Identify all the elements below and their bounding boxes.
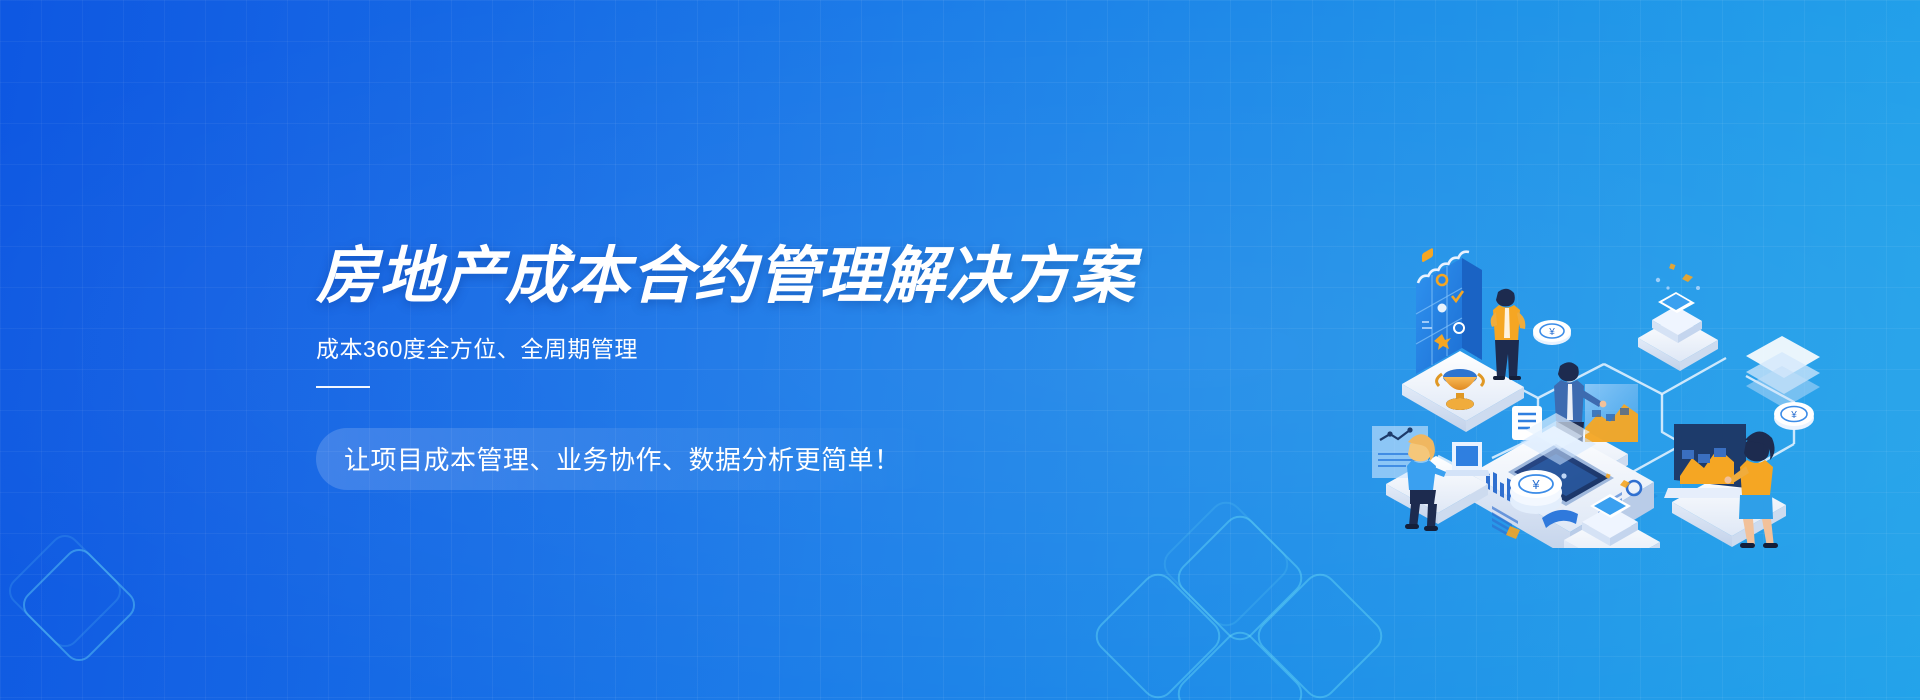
floating-card-icon [1506, 526, 1520, 539]
central-server-hub-icon [1460, 413, 1658, 548]
platform-plate [1402, 351, 1524, 432]
stacked-device-icon [1638, 263, 1718, 371]
calendar-plate-group [1402, 247, 1525, 432]
hero-copy: 房地产成本合约管理解决方案 成本360度全方位、全周期管理 让项目成本管理、业务… [316, 246, 1076, 490]
report-panel-icon [1585, 384, 1638, 442]
coin-yuan-icon: ¥ [1533, 320, 1571, 345]
connection-wires [1438, 358, 1794, 484]
tagline-pill: 让项目成本管理、业务协作、数据分析更简单！ [316, 428, 931, 490]
person-presenting-chart-icon [1554, 362, 1606, 468]
server-bar-chart [1486, 472, 1511, 502]
person-seated-icon [1405, 434, 1446, 531]
presenter-plate-group [1512, 362, 1638, 496]
trophy-icon [1437, 369, 1484, 410]
server-text-lines [1492, 506, 1518, 536]
calendar-board-icon [1416, 247, 1482, 374]
page-title: 房地产成本合约管理解决方案 [316, 246, 1076, 308]
coin-yuan-right-icon: ¥ [1774, 402, 1814, 430]
page-subtitle: 成本360度全方位、全周期管理 [316, 336, 1076, 364]
svg-text:¥: ¥ [1790, 410, 1797, 421]
isometric-cost-management-scene: ¥ [1342, 188, 1902, 548]
document-lines-icon [1512, 406, 1542, 440]
coin-stack-icon: ¥ [1510, 470, 1562, 514]
seated-person-group [1372, 426, 1490, 531]
stacked-device-bottom-icon [1564, 473, 1660, 548]
person-viewing-laptop-icon [1724, 431, 1778, 548]
svg-text:¥: ¥ [1548, 327, 1555, 338]
layer-stack-icon [1746, 336, 1820, 408]
laptop-analytics-group [1664, 424, 1786, 548]
tablet-icon [1444, 442, 1490, 476]
report-panel-left-icon [1372, 426, 1428, 478]
hero-banner: 房地产成本合约管理解决方案 成本360度全方位、全周期管理 让项目成本管理、业务… [0, 0, 1920, 700]
server-right-grid [1598, 492, 1622, 521]
laptop-analytics-icon [1664, 424, 1756, 498]
divider-rule [316, 386, 370, 388]
svg-text:¥: ¥ [1531, 477, 1540, 492]
person-standing-icon [1491, 289, 1526, 380]
